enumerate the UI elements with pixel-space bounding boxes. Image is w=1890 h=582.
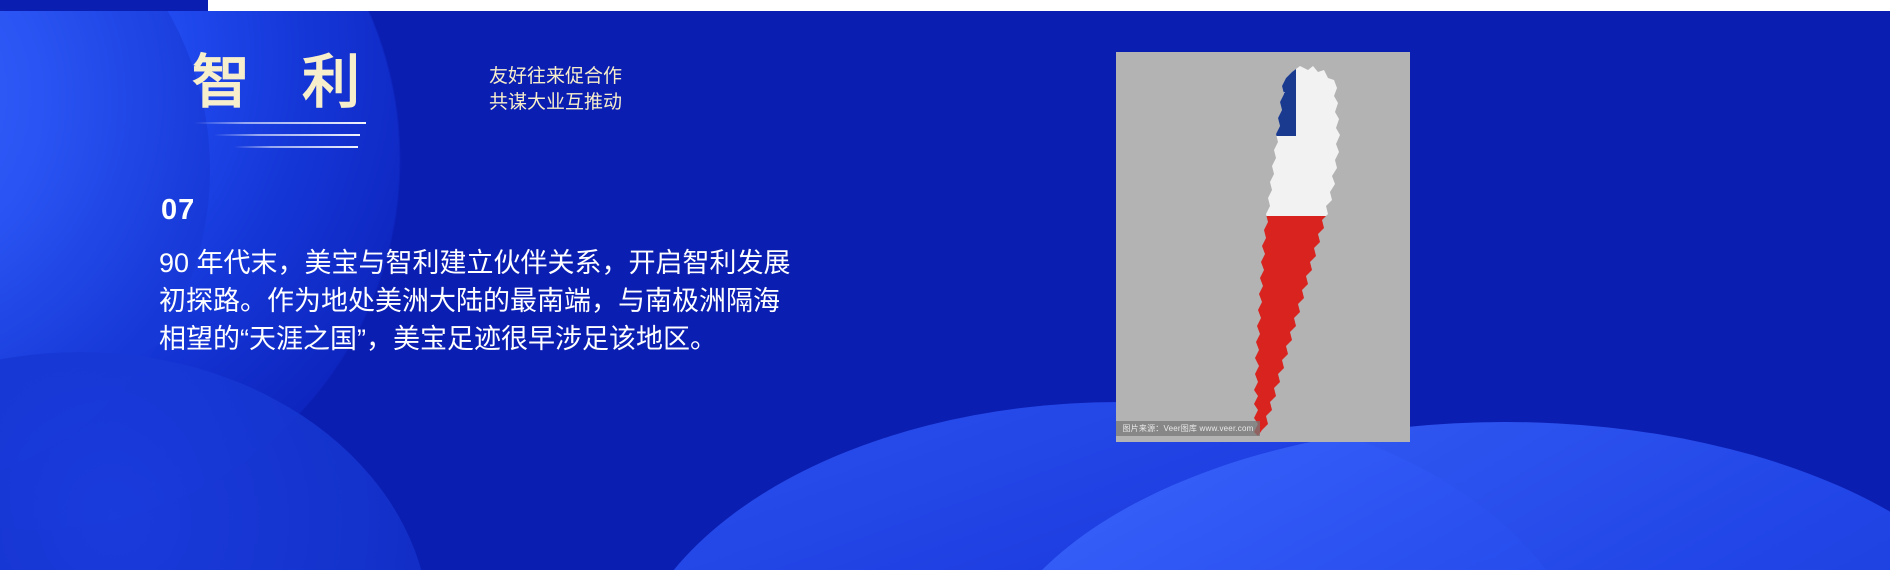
flag-white-band xyxy=(1240,56,1360,216)
top-white-bar xyxy=(208,0,1890,11)
top-bar-left-gap xyxy=(0,0,208,11)
flag-star xyxy=(1251,80,1285,113)
page-title: 智 利 xyxy=(192,54,378,112)
subtitle: 友好往来促合作 共谋大业互推动 xyxy=(489,64,622,116)
flag-fill-group xyxy=(1240,56,1360,442)
slide-root: 智 利 友好往来促合作 共谋大业互推动 07 90 年代末，美宝与智利建立伙伴关… xyxy=(0,0,1890,582)
flag-red-band xyxy=(1240,216,1360,442)
title-rule-3 xyxy=(234,146,358,148)
title-rule-2 xyxy=(214,134,360,136)
section-number: 07 xyxy=(161,194,195,227)
title-underline-decoration xyxy=(186,122,426,156)
subtitle-line-1: 友好往来促合作 xyxy=(489,64,622,90)
flag-blue-canton xyxy=(1240,56,1296,136)
title-rule-1 xyxy=(194,122,366,124)
subtitle-line-2: 共谋大业互推动 xyxy=(489,90,622,116)
paragraph-line-2: 初探路。作为地处美洲大陆的最南端，与南极洲隔海 xyxy=(159,282,919,320)
paragraph-line-1: 90 年代末，美宝与智利建立伙伴关系，开启智利发展 xyxy=(159,244,919,282)
photo-inner: 图片来源：Veer图库 www.veer.com xyxy=(1116,52,1410,442)
paragraph-line-3: 相望的“天涯之国”，美宝足迹很早涉足该地区。 xyxy=(159,320,919,358)
bottom-white-bar xyxy=(0,570,1890,582)
chile-map-photo: 图片来源：Veer图库 www.veer.com xyxy=(1116,52,1410,442)
image-watermark: 图片来源：Veer图库 www.veer.com xyxy=(1116,421,1260,436)
body-paragraph: 90 年代末，美宝与智利建立伙伴关系，开启智利发展 初探路。作为地处美洲大陆的最… xyxy=(159,244,919,358)
chile-flag-map-icon xyxy=(1240,56,1360,442)
